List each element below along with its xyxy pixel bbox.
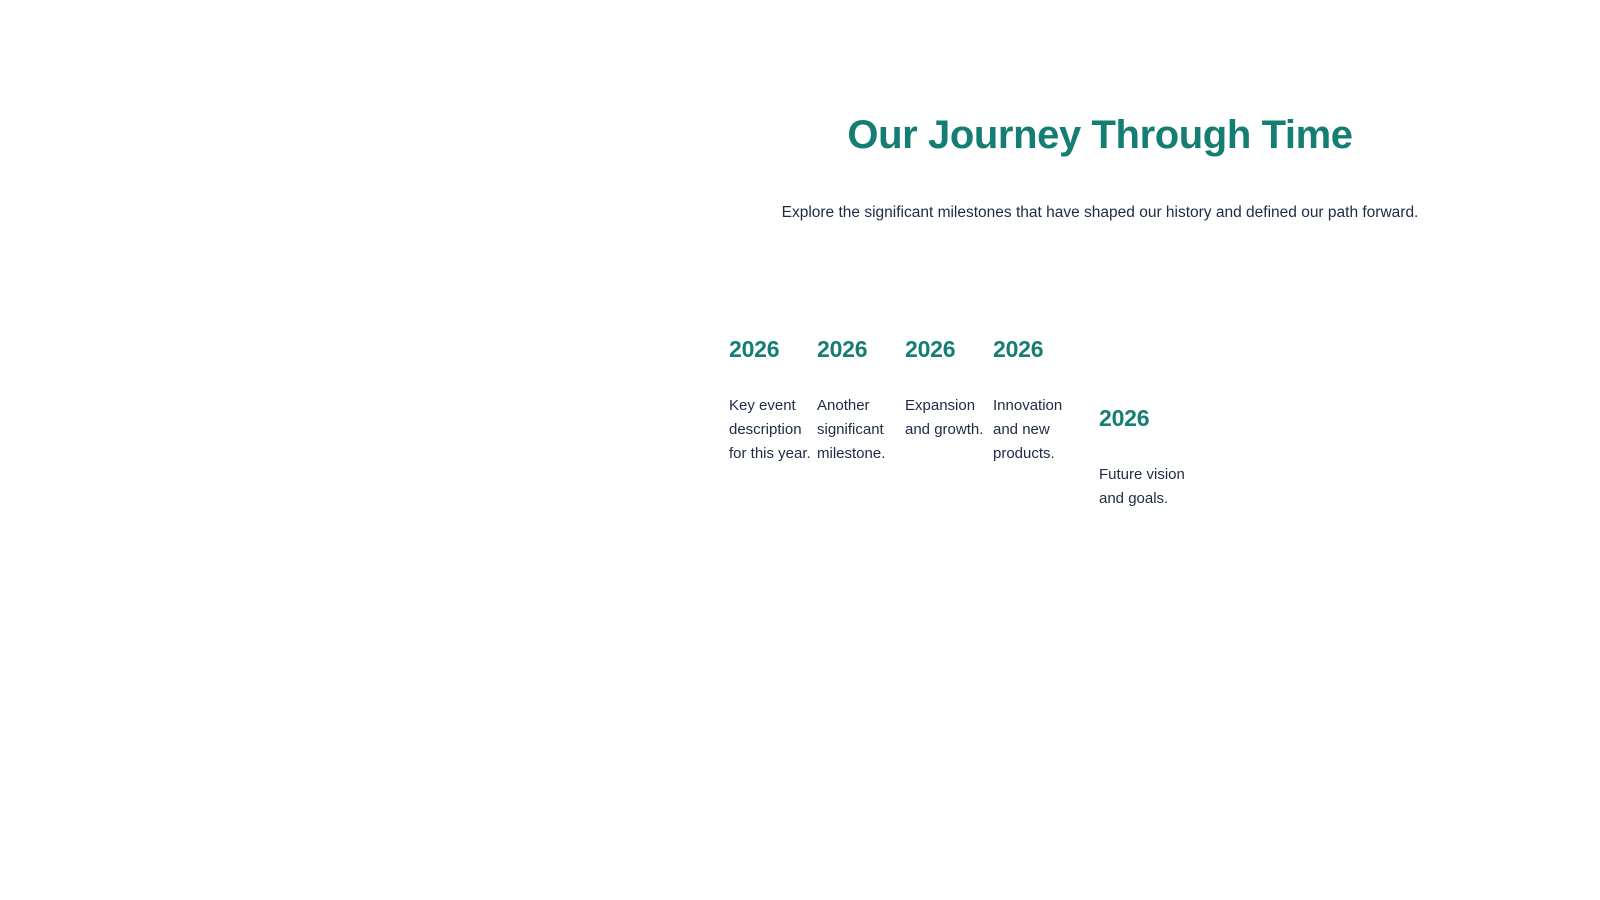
page-title: Our Journey Through Time	[700, 112, 1500, 159]
timeline-item[interactable]: 2026 Future vision and goals.	[1099, 336, 1187, 511]
timeline-item-year: 2026	[1099, 405, 1187, 433]
timeline-list: 2026 Key event description for this year…	[729, 336, 1187, 511]
page-root: Our Journey Through Time Explore the sig…	[0, 0, 1600, 900]
page-subtitle: Explore the significant milestones that …	[700, 159, 1500, 224]
timeline-item[interactable]: 2026 Key event description for this year…	[729, 336, 817, 466]
timeline-item[interactable]: 2026 Innovation and new products.	[993, 336, 1081, 466]
timeline-item-description: Key event description for this year.	[729, 364, 817, 466]
timeline-item-description: Expansion and growth.	[905, 364, 993, 442]
page-header: Our Journey Through Time Explore the sig…	[700, 112, 1500, 224]
timeline-item-description: Future vision and goals.	[1099, 433, 1187, 511]
timeline-item-description: Innovation and new products.	[993, 364, 1081, 466]
timeline-item-year: 2026	[993, 336, 1081, 364]
timeline-item-year: 2026	[817, 336, 905, 364]
timeline-item-year: 2026	[905, 336, 993, 364]
timeline-item-description: Another significant milestone.	[817, 364, 905, 466]
timeline-item[interactable]: 2026 Expansion and growth.	[905, 336, 993, 442]
timeline-item-year: 2026	[729, 336, 817, 364]
timeline-item[interactable]: 2026 Another significant milestone.	[817, 336, 905, 466]
